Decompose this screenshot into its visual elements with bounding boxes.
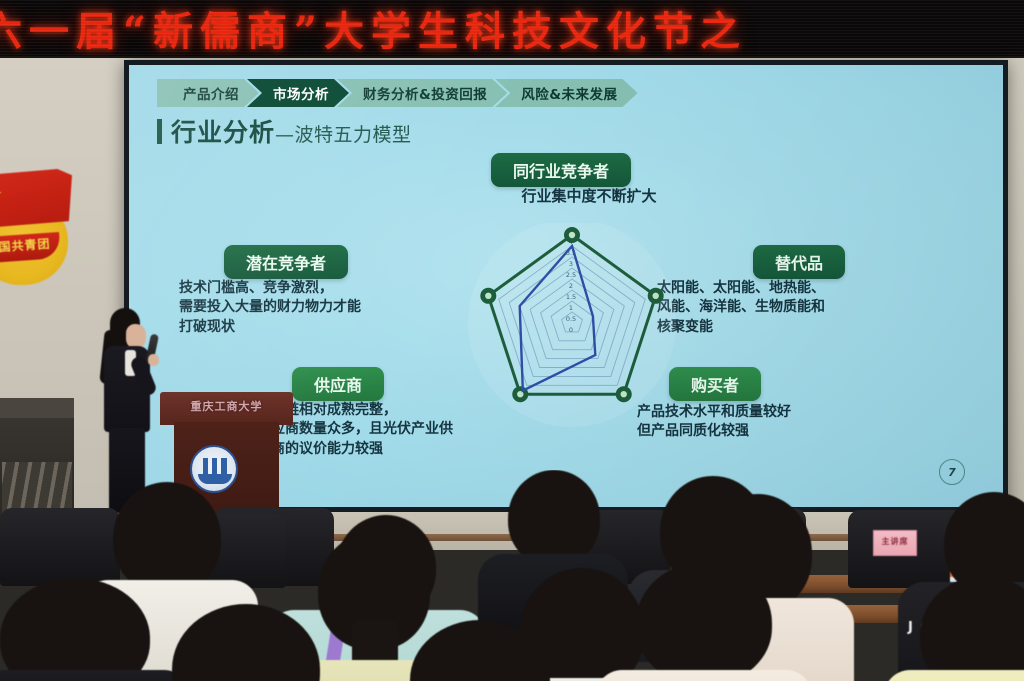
- led-banner: 六一届“新儒商”大学生科技文化节之: [0, 0, 1024, 58]
- torso: [0, 670, 190, 681]
- nav-step-label: 财务分析&投资回报: [363, 83, 487, 103]
- lectern-university-name: 重庆工商大学: [160, 398, 293, 414]
- force-desc-rivalry: 行业集中度不断扩大: [459, 186, 719, 207]
- name-card: 主讲席: [873, 530, 917, 556]
- force-tag-new-entrants: 潜在竞争者: [224, 245, 348, 279]
- head: [508, 470, 600, 566]
- force-tag-rivalry: 同行业竞争者: [491, 153, 631, 187]
- head: [113, 482, 221, 594]
- title-accent-bar: [157, 119, 162, 144]
- led-banner-text: 六一届“新儒商”大学生科技文化节之: [0, 0, 747, 57]
- presentation-photo-scene: 六一届“新儒商”大学生科技文化节之 中国共青团 产品介绍 市场分析 财务分析: [0, 0, 1024, 681]
- nav-step-risk-future[interactable]: 风险&未来发展: [495, 79, 637, 107]
- force-desc-substitutes: 太阳能、太阳能、地热能、 风能、海洋能、生物质能和 核聚变能: [657, 279, 937, 337]
- chair: [0, 508, 120, 586]
- torso: [596, 670, 812, 681]
- torso: [884, 670, 1024, 681]
- slide-section-nav: 产品介绍 市场分析 财务分析&投资回报 风险&未来发展: [157, 79, 638, 107]
- nav-step-market-analysis[interactable]: 市场分析: [247, 79, 349, 107]
- av-cabinet-top: [0, 398, 74, 418]
- head: [636, 562, 772, 681]
- nav-step-financial-analysis[interactable]: 财务分析&投资回报: [337, 79, 507, 107]
- name-card-text: 主讲席: [874, 536, 916, 547]
- force-desc-new-entrants: 技术门槛高、竞争激烈， 需要投入大量的财力物力才能 打破现状: [179, 279, 441, 337]
- nav-step-label: 风险&未来发展: [521, 83, 617, 103]
- slide-title-main: 行业分析: [171, 113, 275, 149]
- emblem-flag: [0, 169, 72, 231]
- porter-five-forces-radar-chart: 43.532.521.510.50: [457, 223, 687, 438]
- nav-step-label: 市场分析: [273, 83, 329, 103]
- force-tag-suppliers: 供应商: [292, 367, 384, 401]
- slide-title-sub: —波特五力模型: [275, 120, 412, 147]
- force-tag-substitutes: 替代品: [753, 245, 845, 279]
- presenter-hand: [148, 354, 159, 366]
- nav-step-label: 产品介绍: [183, 83, 239, 103]
- youth-league-emblem-icon: 中国共青团: [0, 163, 82, 288]
- nav-step-product-intro[interactable]: 产品介绍: [157, 79, 259, 107]
- slide-title: 行业分析 —波特五力模型: [157, 113, 412, 149]
- audience-area: 主讲席 JORDAN: [0, 470, 1024, 681]
